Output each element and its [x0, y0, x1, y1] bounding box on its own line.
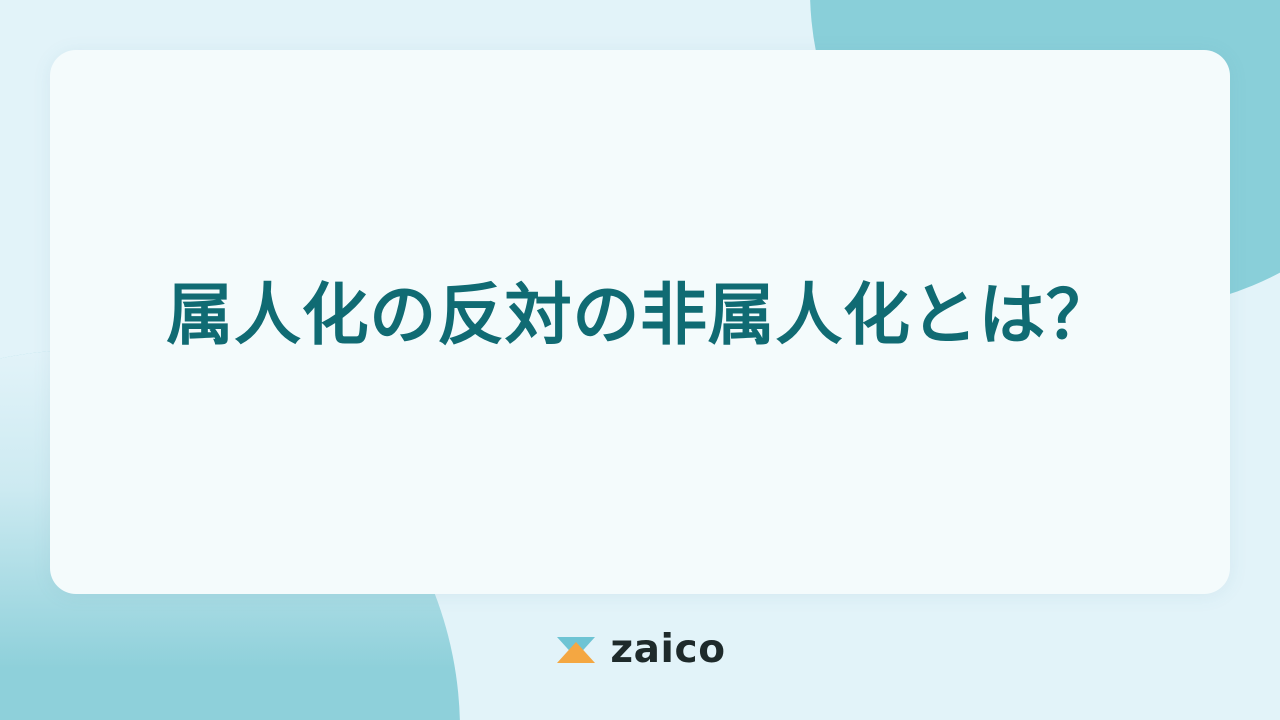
content-card: 属人化の反対の非属人化とは？	[50, 50, 1230, 594]
zaico-z-mark-icon	[554, 628, 598, 672]
footer-branding: zaico	[0, 615, 1280, 685]
slide-title: 属人化の反対の非属人化とは？	[126, 274, 1153, 358]
zaico-logo: zaico	[554, 628, 725, 672]
zaico-wordmark: zaico	[610, 630, 725, 669]
slide-canvas: 属人化の反対の非属人化とは？ zaico	[0, 0, 1280, 720]
